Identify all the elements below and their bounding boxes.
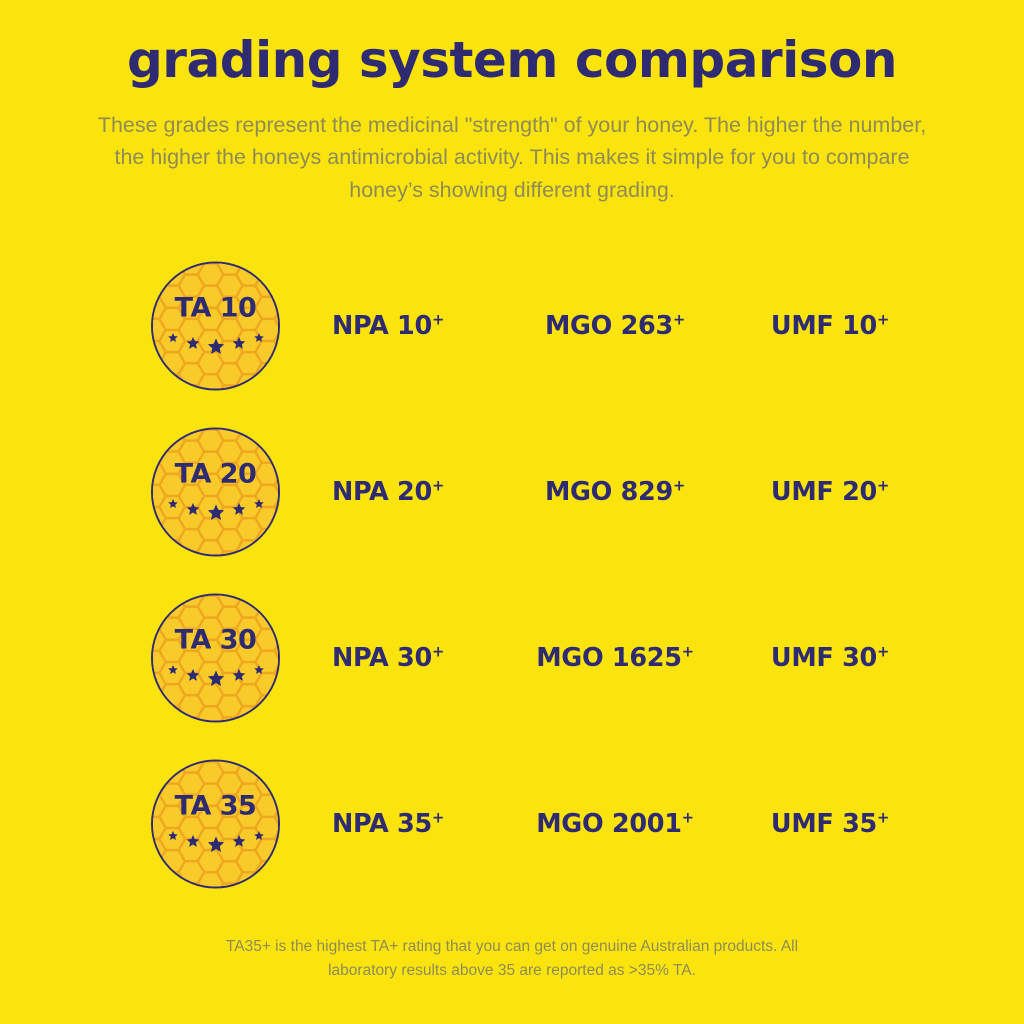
mgo-plus-sign: +: [682, 810, 694, 827]
grading-row: TA 20NPA 20+MGO 829+UMF 20+: [0, 409, 1024, 575]
ta-rating-badge[interactable]: TA 35: [151, 760, 280, 889]
badge-ta-label: TA 10: [175, 294, 257, 321]
grading-row: TA 10NPA 10+MGO 263+UMF 10+: [0, 243, 1024, 409]
npa-plus-sign: +: [432, 810, 444, 827]
umf-plus-sign: +: [877, 644, 889, 661]
umf-plus-sign: +: [877, 810, 889, 827]
grading-comparison-page: grading system comparison These grades r…: [0, 0, 1024, 1024]
umf-plus-sign: +: [877, 478, 889, 495]
badge-stars: [164, 828, 268, 852]
star-icon-group: [164, 496, 268, 520]
page-title: grading system comparison: [0, 34, 1024, 87]
umf-value: UMF 30+: [730, 643, 930, 673]
mgo-value: MGO 263+: [500, 311, 730, 341]
star-icon-group: [164, 330, 268, 354]
mgo-value: MGO 1625+: [500, 643, 730, 673]
badge-stars: [164, 496, 268, 520]
grading-row: TA 35NPA 35+MGO 2001+UMF 35+: [0, 741, 1024, 907]
badge-ta-label: TA 35: [175, 792, 257, 819]
mgo-plus-sign: +: [682, 644, 694, 661]
badge-content: TA 30: [153, 596, 278, 721]
npa-value: NPA 10+: [288, 311, 488, 341]
badge-stars: [164, 662, 268, 686]
umf-value: UMF 10+: [730, 311, 930, 341]
badge-ta-label: TA 20: [175, 460, 257, 487]
mgo-value: MGO 2001+: [500, 809, 730, 839]
grading-row: TA 30NPA 30+MGO 1625+UMF 30+: [0, 575, 1024, 741]
badge-ta-label: TA 30: [175, 626, 257, 653]
badge-content: TA 10: [153, 264, 278, 389]
umf-value: UMF 35+: [730, 809, 930, 839]
ta-rating-badge[interactable]: TA 10: [151, 262, 280, 391]
grading-rows: TA 10NPA 10+MGO 263+UMF 10+TA 20NPA 20+M…: [0, 243, 1024, 907]
page-subtitle: These grades represent the medicinal "st…: [92, 109, 932, 207]
badge-content: TA 35: [153, 762, 278, 887]
npa-value: NPA 30+: [288, 643, 488, 673]
footer-note: TA35+ is the highest TA+ rating that you…: [202, 935, 822, 983]
page-footer: TA35+ is the highest TA+ rating that you…: [0, 935, 1024, 983]
page-header: grading system comparison These grades r…: [0, 0, 1024, 207]
umf-plus-sign: +: [877, 312, 889, 329]
star-icon-group: [164, 662, 268, 686]
npa-value: NPA 20+: [288, 477, 488, 507]
npa-plus-sign: +: [432, 478, 444, 495]
badge-content: TA 20: [153, 430, 278, 555]
ta-rating-badge[interactable]: TA 20: [151, 428, 280, 557]
npa-plus-sign: +: [432, 644, 444, 661]
umf-value: UMF 20+: [730, 477, 930, 507]
mgo-value: MGO 829+: [500, 477, 730, 507]
badge-stars: [164, 330, 268, 354]
star-icon-group: [164, 828, 268, 852]
mgo-plus-sign: +: [673, 478, 685, 495]
mgo-plus-sign: +: [673, 312, 685, 329]
ta-rating-badge[interactable]: TA 30: [151, 594, 280, 723]
npa-value: NPA 35+: [288, 809, 488, 839]
npa-plus-sign: +: [432, 312, 444, 329]
